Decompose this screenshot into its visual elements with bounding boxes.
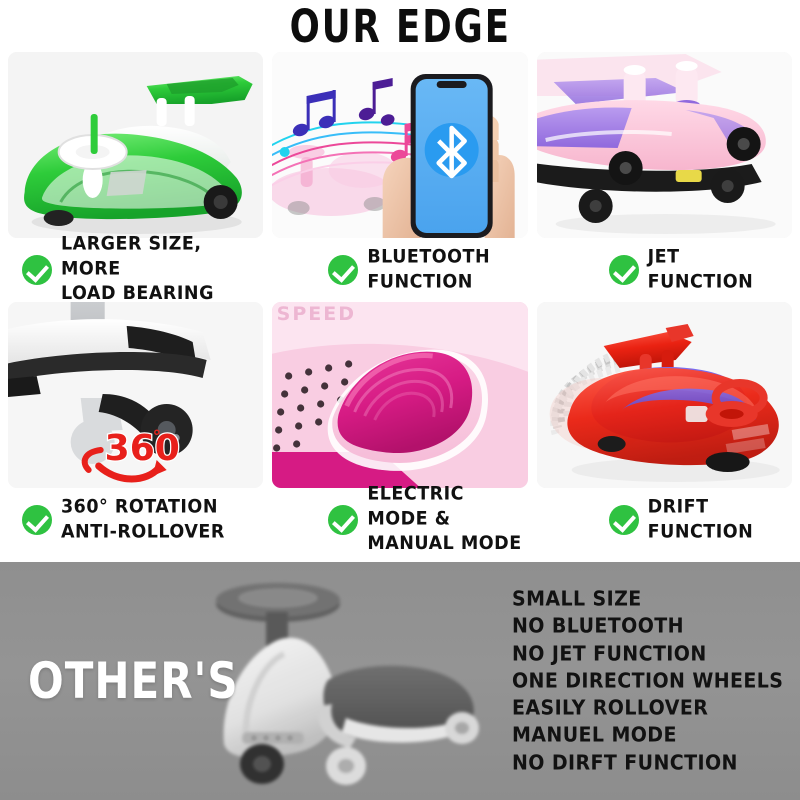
feature-label: JET FUNCTION	[648, 245, 754, 295]
svg-text:°: °	[153, 427, 162, 447]
pink-foot-pedal-photo: SPEED	[272, 302, 527, 488]
check-circle-icon	[22, 255, 52, 285]
feature-label: BLUETOOTH FUNCTION	[367, 245, 490, 295]
check-circle-icon	[609, 505, 639, 535]
green-swing-car-photo	[8, 52, 263, 238]
feature-card-larger-size[interactable]: LARGER SIZE, MORE LOAD BEARING	[8, 52, 263, 302]
page-title: OUR EDGE	[289, 0, 510, 52]
others-drawback-list: SMALL SIZE NO BLUETOOTH NO JET FUNCTION …	[500, 586, 800, 776]
bluetooth-phone-illustration	[272, 52, 527, 238]
feature-caption-jet: JET FUNCTION	[537, 238, 792, 302]
feature-caption-modes: ELECTRIC MODE & MANUAL MODE	[272, 488, 527, 552]
others-title: OTHER'S	[28, 652, 239, 710]
drawback-item: SMALL SIZE	[512, 585, 800, 613]
pink-car-jet-nozzles-photo	[537, 52, 792, 238]
drawback-item: MANUEL MODE	[512, 722, 800, 750]
hand-holding-phone-bluetooth-photo	[272, 52, 527, 238]
header: OUR EDGE	[0, 0, 800, 52]
feature-caption-bluetooth: BLUETOOTH FUNCTION	[272, 238, 527, 302]
caster-360-illustration: 360 °	[8, 302, 263, 488]
others-visual: OTHER'S	[0, 562, 500, 800]
caster-wheel-360-photo: 360 °	[8, 302, 263, 488]
drift-car-illustration	[537, 302, 792, 488]
feature-label: ELECTRIC MODE & MANUAL MODE	[367, 483, 527, 558]
check-circle-icon	[328, 255, 358, 285]
drawback-item: NO DIRFT FUNCTION	[512, 749, 800, 777]
jet-nozzle-illustration	[537, 52, 792, 238]
drawback-item: NO BLUETOOTH	[512, 613, 800, 641]
feature-caption-drift: DRIFT FUNCTION	[537, 488, 792, 552]
feature-card-jet[interactable]: JET FUNCTION	[537, 52, 792, 302]
drawback-item: EASILY ROLLOVER	[512, 694, 800, 722]
feature-caption-rotation: 360° ROTATION ANTI-ROLLOVER	[8, 488, 263, 552]
foot-pedal-illustration: SPEED	[272, 302, 527, 488]
check-circle-icon	[22, 505, 52, 535]
feature-label: LARGER SIZE, MORE LOAD BEARING	[61, 233, 263, 308]
red-blue-drift-car-photo	[537, 302, 792, 488]
svg-text:360: 360	[105, 428, 180, 469]
feature-card-rotation[interactable]: 360 ° 360° ROTATION ANTI-ROLLOVER	[8, 302, 263, 552]
svg-text:SPEED: SPEED	[277, 303, 356, 325]
drawback-item: NO JET FUNCTION	[512, 640, 800, 668]
feature-grid: LARGER SIZE, MORE LOAD BEARING	[0, 52, 800, 552]
feature-card-modes[interactable]: SPEED ELECTRIC MODE & MANUAL MODE	[272, 302, 527, 552]
feature-label: DRIFT FUNCTION	[648, 495, 754, 545]
check-circle-icon	[609, 255, 639, 285]
feature-card-drift[interactable]: DRIFT FUNCTION	[537, 302, 792, 552]
check-circle-icon	[328, 505, 358, 535]
green-swing-car-illustration	[8, 52, 263, 238]
drawback-item: ONE DIRECTION WHEELS	[512, 667, 800, 695]
others-comparison-panel: OTHER'S SMALL SIZE NO BLUETOOTH NO JET F…	[0, 562, 800, 800]
feature-caption-larger-size: LARGER SIZE, MORE LOAD BEARING	[8, 238, 263, 302]
feature-card-bluetooth[interactable]: BLUETOOTH FUNCTION	[272, 52, 527, 302]
feature-label: 360° ROTATION ANTI-ROLLOVER	[61, 495, 225, 545]
